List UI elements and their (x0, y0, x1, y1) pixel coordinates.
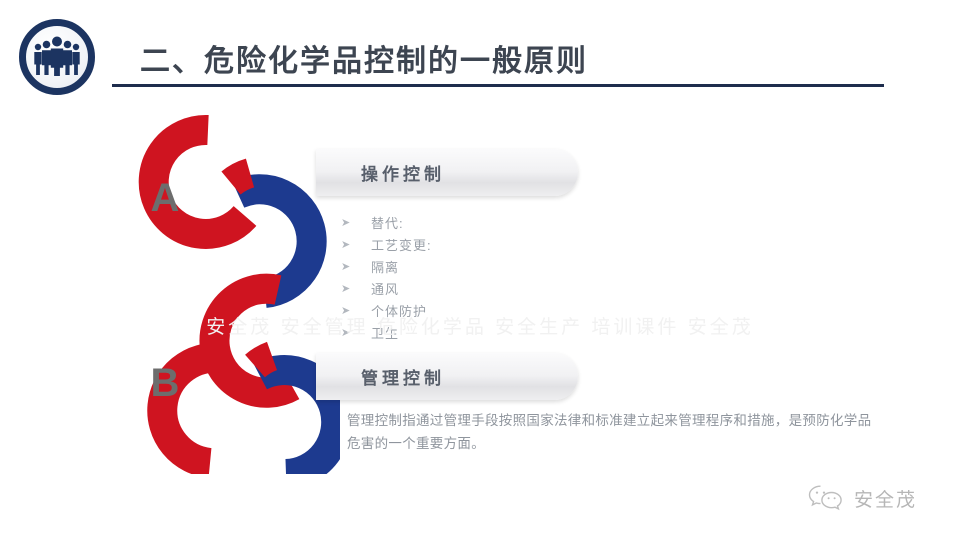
management-control-paragraph: 管理控制指通过管理手段按照国家法律和标准建立起来管理程序和措施，是预防化学品危害… (347, 409, 877, 455)
arrow-bullet-icon: ➤ (341, 216, 371, 229)
page-title: 二、危险化学品控制的一般原则 (140, 36, 588, 80)
section-banner-b[interactable]: 管理控制 (316, 353, 578, 400)
list-item-label: 个体防护 (371, 301, 427, 320)
list-item: ➤ 隔离 (341, 255, 641, 277)
slide-canvas: 二、危险化学品控制的一般原则 A B (0, 0, 960, 540)
chain-join-red-upper (231, 173, 250, 183)
arrow-bullet-icon: ➤ (341, 326, 371, 339)
section-letter-b: B (145, 363, 185, 403)
section-banner-b-label: 管理控制 (361, 364, 445, 389)
list-item-label: 工艺变更: (371, 235, 432, 254)
title-underline-rule (112, 84, 884, 87)
list-item-label: 隔离 (371, 257, 399, 276)
list-item-label: 替代: (371, 213, 404, 232)
arrow-bullet-icon: ➤ (341, 260, 371, 273)
arrow-bullet-icon: ➤ (341, 238, 371, 251)
people-group-circle-icon (19, 19, 95, 95)
footer-brand-label: 安全茂 (854, 485, 917, 512)
slide-header: 二、危险化学品控制的一般原则 (0, 0, 960, 100)
list-item: ➤ 个体防护 (341, 299, 641, 321)
arrow-bullet-icon: ➤ (341, 282, 371, 295)
section-banner-a[interactable]: 操作控制 (316, 149, 578, 196)
wechat-icon (806, 483, 846, 513)
operational-control-bullet-list: ➤ 替代: ➤ 工艺变更: ➤ 隔离 ➤ 通风 ➤ 个体防护 ➤ 卫生 (341, 211, 641, 343)
list-item-label: 卫生 (371, 323, 399, 342)
arrow-bullet-icon: ➤ (341, 304, 371, 317)
list-item: ➤ 工艺变更: (341, 233, 641, 255)
chain-join-red-lower (255, 356, 272, 366)
list-item: ➤ 通风 (341, 277, 641, 299)
section-letter-a: A (145, 178, 185, 218)
section-banner-a-label: 操作控制 (361, 160, 445, 185)
chain-link-graphic (110, 108, 340, 474)
list-item: ➤ 替代: (341, 211, 641, 233)
footer-brand: 安全茂 (806, 483, 917, 513)
list-item-label: 通风 (371, 279, 399, 298)
list-item: ➤ 卫生 (341, 321, 641, 343)
